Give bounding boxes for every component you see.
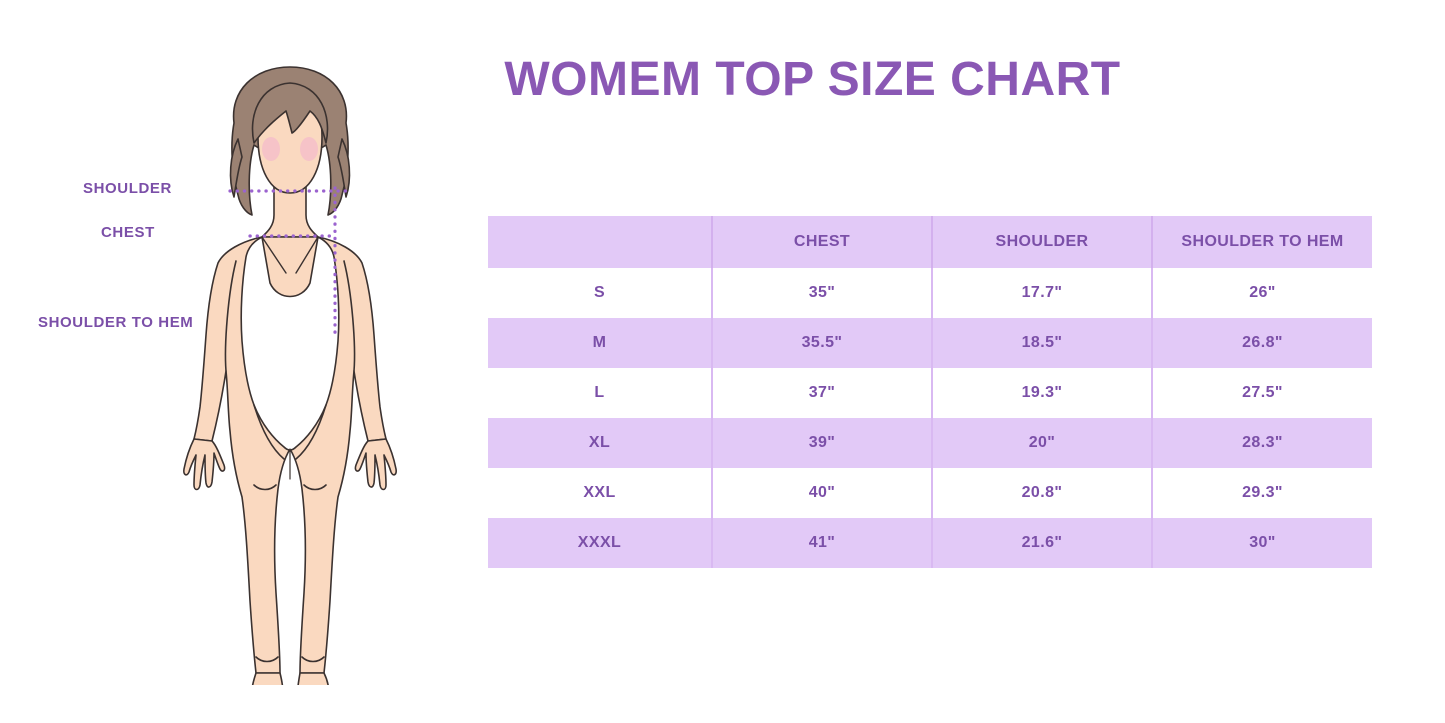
cell-shoulder-to-hem: 26.8" [1152,318,1372,368]
cell-chest: 40" [712,468,932,518]
table-header: CHEST SHOULDER SHOULDER TO HEM [488,216,1372,268]
table-row: M 35.5" 18.5" 26.8" [488,318,1372,368]
cell-size: S [488,268,712,318]
cell-shoulder-to-hem: 26" [1152,268,1372,318]
column-header-shoulder: SHOULDER [932,216,1152,268]
cell-size: XXXL [488,518,712,568]
female-body-illustration [150,45,430,685]
label-shoulder: SHOULDER [83,180,172,197]
cell-size: M [488,318,712,368]
cell-shoulder-to-hem: 28.3" [1152,418,1372,468]
cell-shoulder: 19.3" [932,368,1152,418]
label-chest: CHEST [101,224,155,241]
blush-right [300,137,318,161]
cell-shoulder: 20" [932,418,1152,468]
cell-shoulder: 17.7" [932,268,1152,318]
cell-size: XXL [488,468,712,518]
table-body: S 35" 17.7" 26" M 35.5" 18.5" 26.8" L 37… [488,268,1372,568]
cell-chest: 35.5" [712,318,932,368]
cell-shoulder-to-hem: 27.5" [1152,368,1372,418]
column-header-shoulder-to-hem: SHOULDER TO HEM [1152,216,1372,268]
cell-shoulder: 20.8" [932,468,1152,518]
hand-right [355,439,396,490]
table-header-row: CHEST SHOULDER SHOULDER TO HEM [488,216,1372,268]
hand-left [184,439,225,490]
cell-chest: 35" [712,268,932,318]
blush-left [262,137,280,161]
size-chart-page: WOMEM TOP SIZE CHART [0,0,1445,723]
foot-left [252,673,283,685]
cell-size: L [488,368,712,418]
cell-size: XL [488,418,712,468]
cell-shoulder: 18.5" [932,318,1152,368]
table-row: L 37" 19.3" 27.5" [488,368,1372,418]
cell-chest: 39" [712,418,932,468]
table-row: S 35" 17.7" 26" [488,268,1372,318]
label-shoulder-to-hem: SHOULDER TO HEM [38,314,193,331]
table-row: XXXL 41" 21.6" 30" [488,518,1372,568]
cell-shoulder: 21.6" [932,518,1152,568]
column-header-chest: CHEST [712,216,932,268]
figure-panel: SHOULDER CHEST SHOULDER TO HEM [0,0,470,723]
cell-chest: 41" [712,518,932,568]
table-row: XXL 40" 20.8" 29.3" [488,468,1372,518]
cell-chest: 37" [712,368,932,418]
size-chart-table: CHEST SHOULDER SHOULDER TO HEM S 35" 17.… [488,216,1372,568]
column-header-size [488,216,712,268]
cell-shoulder-to-hem: 30" [1152,518,1372,568]
foot-right [298,673,329,685]
cell-shoulder-to-hem: 29.3" [1152,468,1372,518]
size-table-container: CHEST SHOULDER SHOULDER TO HEM S 35" 17.… [488,216,1372,568]
table-row: XL 39" 20" 28.3" [488,418,1372,468]
